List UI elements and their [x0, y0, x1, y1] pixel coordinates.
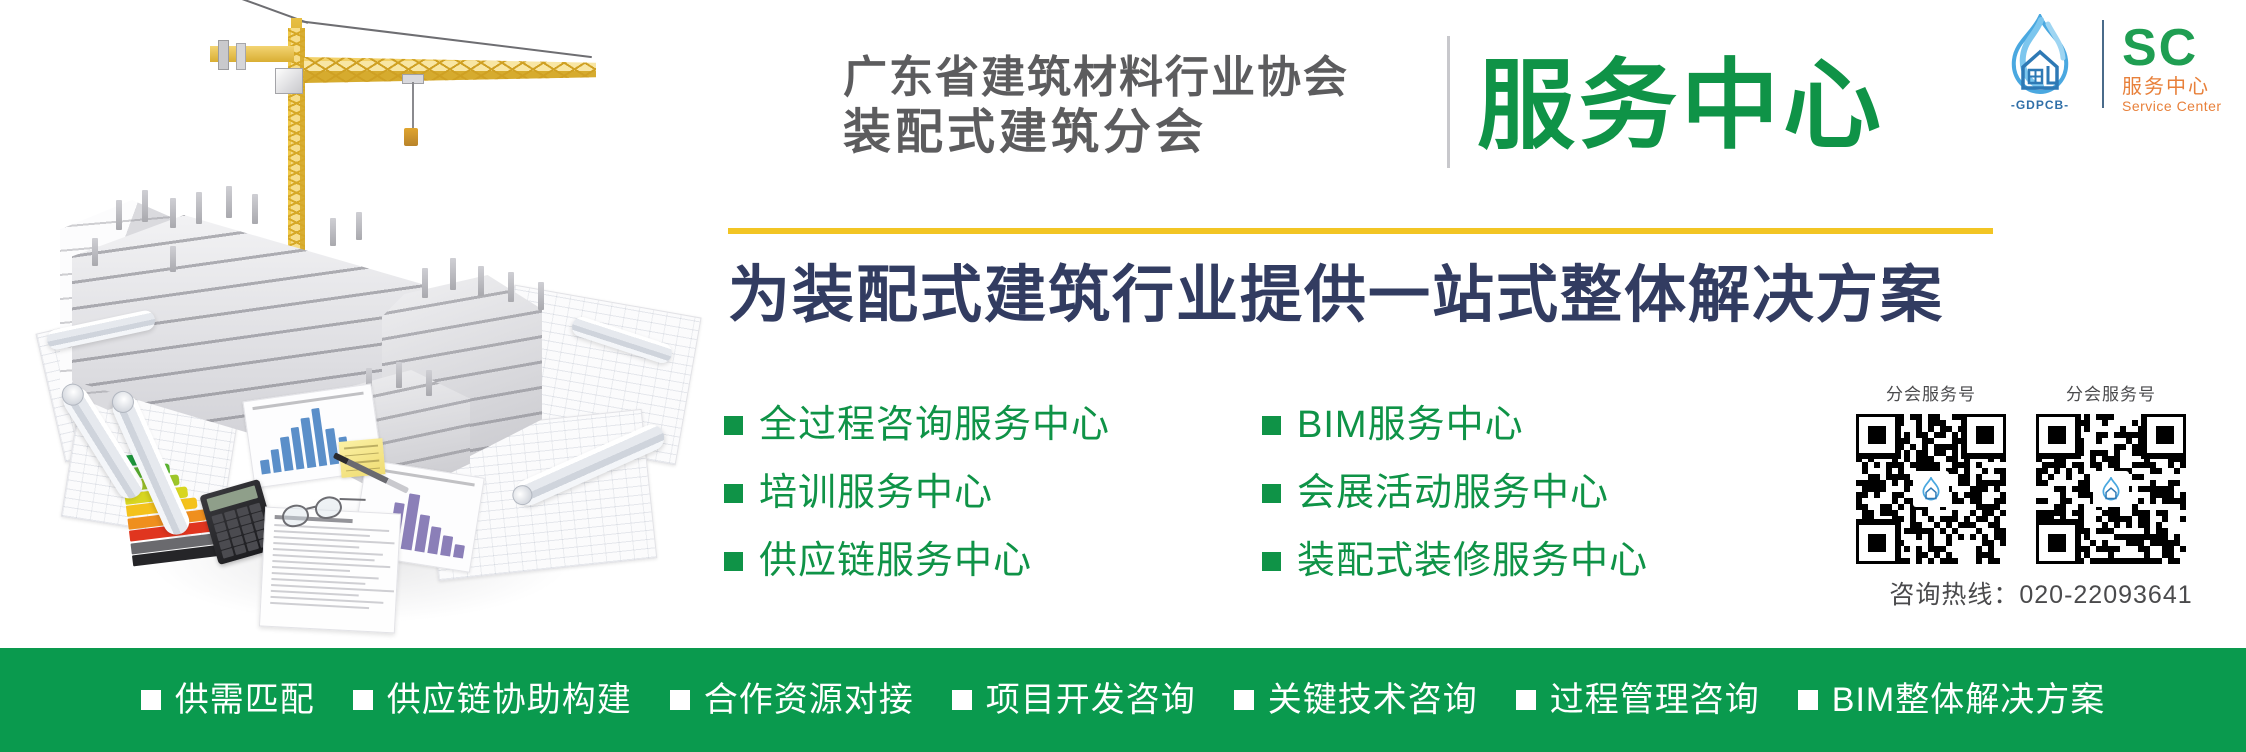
list-item[interactable]: 培训服务中心 — [724, 472, 1110, 514]
square-bullet-icon — [724, 484, 743, 503]
list-item[interactable]: 合作资源对接 — [670, 681, 914, 719]
rebar-column — [478, 266, 484, 296]
footer-label: 关键技术咨询 — [1268, 681, 1478, 719]
flame-house-icon — [1992, 14, 2088, 100]
main-tagline: 为装配式建筑行业提供一站式整体解决方案 — [728, 258, 1944, 334]
service-label: BIM服务中心 — [1297, 404, 1524, 446]
qr-code-cell: 分会服务号 — [2036, 384, 2186, 564]
square-bullet-icon — [1516, 690, 1536, 710]
square-bullet-icon — [724, 552, 743, 571]
rebar-column — [196, 192, 202, 224]
rebar-column — [252, 194, 258, 224]
vertical-divider-icon — [2102, 20, 2104, 108]
service-label: 培训服务中心 — [759, 472, 993, 514]
footer-services-bar: 供需匹配 供应链协助构建 合作资源对接 项目开发咨询 关键技术咨询 过程管理咨询… — [0, 648, 2246, 752]
vertical-divider-icon — [1447, 36, 1450, 168]
rebar-column — [116, 200, 122, 230]
square-bullet-icon — [1234, 690, 1254, 710]
square-bullet-icon — [1262, 416, 1281, 435]
qr-code-block: 分会服务号 分会服务号 — [1856, 384, 2226, 610]
footer-label: 合作资源对接 — [704, 681, 914, 719]
service-list-left: 全过程咨询服务中心 培训服务中心 供应链服务中心 — [724, 404, 1110, 582]
rebar-column — [396, 362, 402, 388]
rebar-column — [508, 272, 514, 302]
square-bullet-icon — [1262, 552, 1281, 571]
list-item[interactable]: 供需匹配 — [141, 681, 315, 719]
construction-site-illustration — [30, 0, 690, 640]
list-item[interactable]: 供应链服务中心 — [724, 540, 1110, 582]
crane-operator-cab — [275, 68, 303, 94]
footer-label: 过程管理咨询 — [1550, 681, 1760, 719]
flame-house-icon — [1913, 471, 1949, 507]
rebar-column — [356, 212, 362, 240]
list-item[interactable]: 全过程咨询服务中心 — [724, 404, 1110, 446]
service-center-lists: 全过程咨询服务中心 培训服务中心 供应链服务中心 BIM服务中心 会展活动服务中… — [724, 404, 1648, 582]
logo-initials: SC — [2122, 22, 2198, 74]
rebar-column — [538, 282, 544, 310]
footer-label: BIM整体解决方案 — [1832, 681, 2105, 719]
square-bullet-icon — [353, 690, 373, 710]
logo-english-subtitle: Service Center — [2122, 98, 2222, 114]
rebar-column — [170, 198, 176, 228]
list-item[interactable]: 会展活动服务中心 — [1262, 472, 1648, 514]
square-bullet-icon — [1262, 484, 1281, 503]
list-item[interactable]: 过程管理咨询 — [1516, 681, 1760, 719]
footer-label: 供需匹配 — [175, 681, 315, 719]
qr-code-image[interactable] — [1856, 414, 2006, 564]
crane-counterweight — [218, 40, 229, 70]
service-label: 装配式装修服务中心 — [1297, 540, 1648, 582]
service-label: 供应链服务中心 — [759, 540, 1032, 582]
service-label: 全过程咨询服务中心 — [759, 404, 1110, 446]
square-bullet-icon — [670, 690, 690, 710]
qr-caption: 分会服务号 — [2036, 384, 2186, 406]
square-bullet-icon — [1798, 690, 1818, 710]
rebar-column — [426, 370, 432, 396]
list-item[interactable]: 关键技术咨询 — [1234, 681, 1478, 719]
service-list-right: BIM服务中心 会展活动服务中心 装配式装修服务中心 — [1262, 404, 1648, 582]
qr-code-cell: 分会服务号 — [1856, 384, 2006, 564]
qr-code-image[interactable] — [2036, 414, 2186, 564]
footer-label: 项目开发咨询 — [986, 681, 1196, 719]
promotional-banner: 广东省建筑材料行业协会 装配式建筑分会 服务中心 为装配式建筑行业提供一站式整体… — [0, 0, 2246, 752]
mortgage-form-icon — [259, 507, 401, 634]
service-label: 会展活动服务中心 — [1297, 472, 1609, 514]
logo-chinese-subtitle: 服务中心 — [2122, 76, 2210, 98]
rebar-column — [92, 238, 98, 266]
rebar-column — [226, 186, 232, 218]
square-bullet-icon — [724, 416, 743, 435]
crane-hoist-line — [412, 82, 414, 130]
logo-group: -GDPCB- SC 服务中心 Service Center — [1992, 14, 2232, 114]
square-bullet-icon — [952, 690, 972, 710]
rebar-column — [170, 246, 176, 272]
list-item[interactable]: 供应链协助构建 — [353, 681, 632, 719]
service-center-title: 服务中心 — [1477, 50, 1885, 160]
association-name-line1: 广东省建筑材料行业协会 — [843, 52, 1463, 104]
list-item[interactable]: 项目开发咨询 — [952, 681, 1196, 719]
qr-caption: 分会服务号 — [1856, 384, 2006, 406]
rebar-column — [330, 218, 336, 246]
logo-abbreviation: -GDPCB- — [1992, 98, 2088, 112]
horizontal-rule-divider — [728, 228, 1993, 234]
square-bullet-icon — [141, 690, 161, 710]
hotline-text: 咨询热线：020-22093641 — [1856, 580, 2226, 610]
list-item[interactable]: 装配式装修服务中心 — [1262, 540, 1648, 582]
association-name-block: 广东省建筑材料行业协会 装配式建筑分会 — [843, 52, 1463, 162]
rebar-column — [450, 258, 456, 290]
flame-house-icon — [2093, 471, 2129, 507]
rebar-column — [422, 268, 428, 298]
crane-counterweight — [236, 43, 246, 70]
crane-hook — [404, 128, 418, 146]
list-item[interactable]: BIM服务中心 — [1262, 404, 1648, 446]
list-item[interactable]: BIM整体解决方案 — [1798, 681, 2105, 719]
rebar-column — [142, 190, 148, 222]
footer-label: 供应链协助构建 — [387, 681, 632, 719]
association-name-line2: 装配式建筑分会 — [843, 104, 1463, 162]
crane-tie-cable — [298, 20, 588, 60]
